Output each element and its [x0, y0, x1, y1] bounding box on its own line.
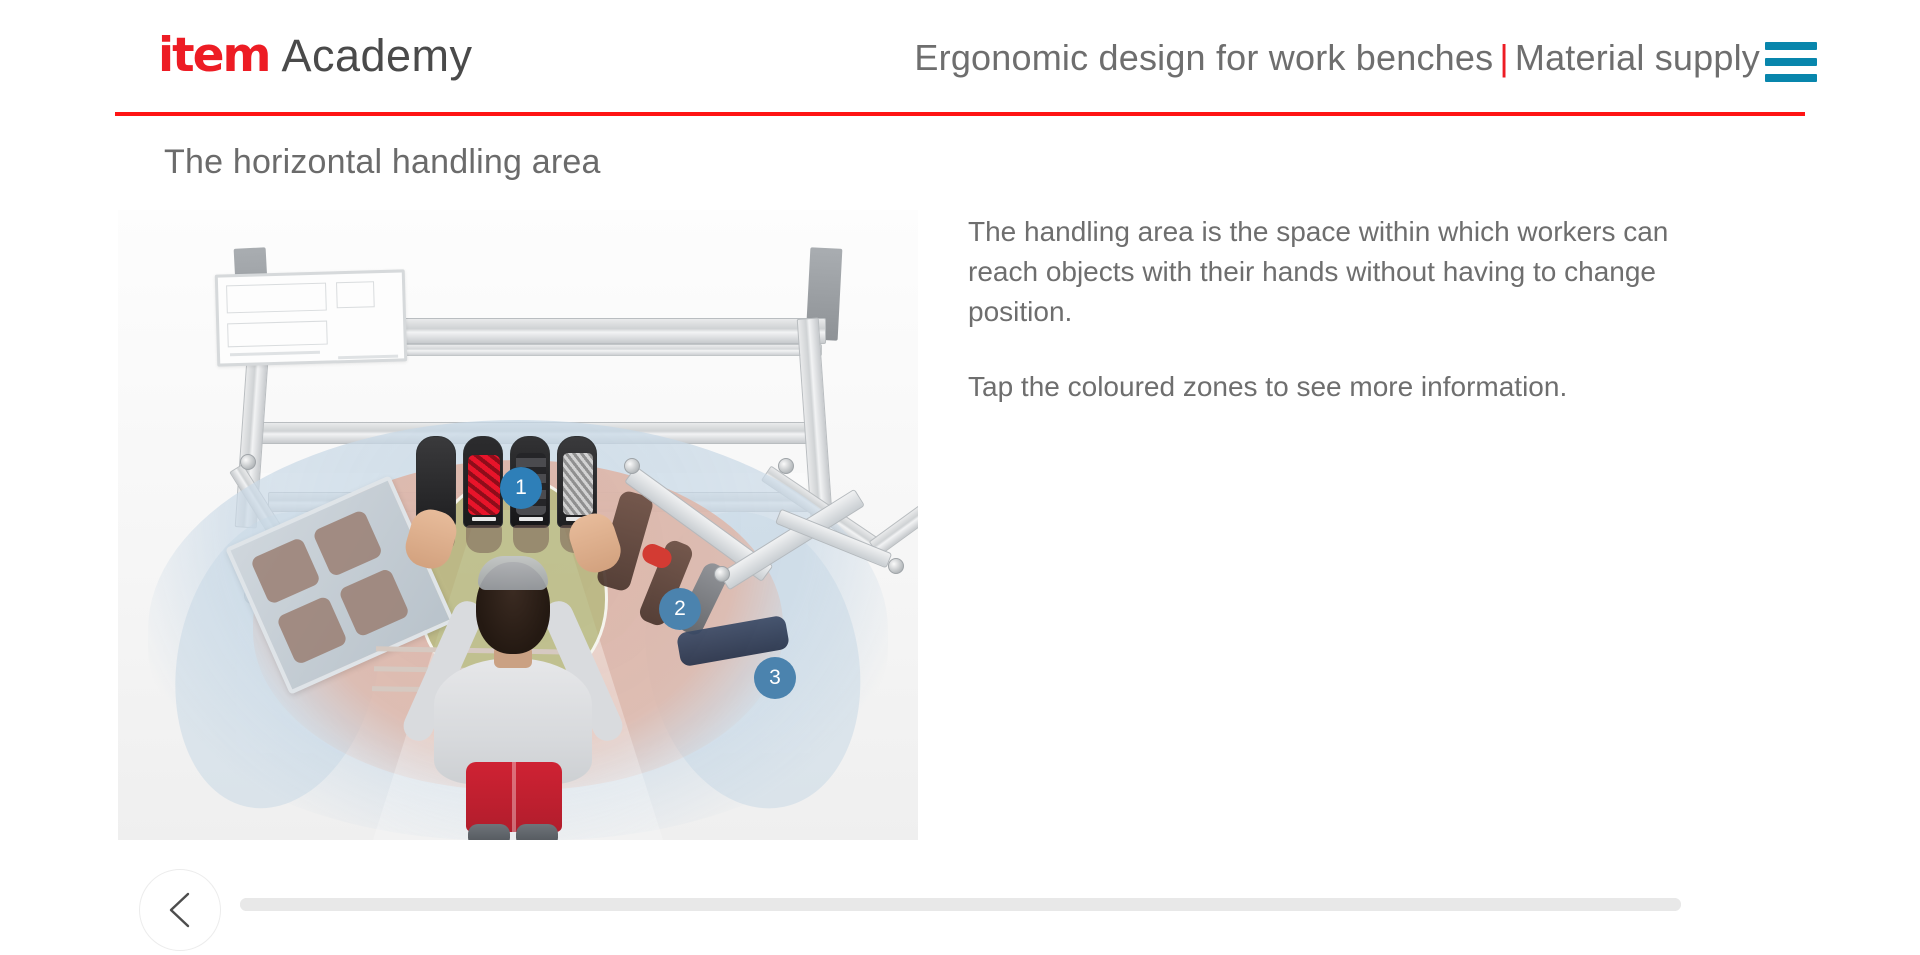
worker-figure: [420, 562, 606, 840]
brand-name-item: item: [158, 28, 269, 83]
doc-panel-b: [227, 321, 328, 348]
header-divider: [115, 112, 1805, 116]
handling-area-illustration[interactable]: 1 2 3: [118, 210, 918, 840]
bin-label-3: [519, 517, 543, 521]
app-header: item Academy Ergonomic design for work b…: [0, 0, 1920, 120]
bin-2-red-parts: [468, 455, 500, 515]
illustration-canvas: 1 2 3: [118, 210, 918, 840]
zone-marker-1[interactable]: 1: [500, 467, 542, 509]
zone-marker-3-label: 3: [769, 666, 781, 690]
course-breadcrumb-title: Ergonomic design for work benches|Materi…: [914, 37, 1760, 79]
tray-cell-1: [250, 537, 321, 605]
description-paragraph-2: Tap the coloured zones to see more infor…: [968, 367, 1698, 407]
hamburger-bar-2: [1765, 58, 1817, 66]
course-title: Ergonomic design for work benches: [914, 37, 1493, 78]
chevron-left-icon: [165, 890, 195, 930]
drawing-document-holder: [215, 269, 407, 366]
description-paragraph-1: The handling area is the space within wh…: [968, 212, 1698, 331]
material-bin-2: [463, 436, 503, 528]
title-separator: |: [1493, 37, 1515, 78]
zone-marker-2-label: 2: [674, 597, 686, 621]
tray-cell-2: [312, 509, 383, 577]
academy-slide-page: item Academy Ergonomic design for work b…: [0, 0, 1920, 955]
previous-slide-button[interactable]: [139, 869, 221, 951]
zone-marker-1-label: 1: [515, 476, 527, 500]
slide-progress-fill: [240, 898, 1681, 911]
brand-logo[interactable]: item Academy: [158, 28, 473, 83]
doc-text-line-1: [230, 351, 320, 357]
slide-progress-bar[interactable]: [240, 898, 1681, 911]
doc-panel-c: [336, 281, 375, 308]
worker-shoe-right: [516, 824, 558, 840]
bin-lip-2: [466, 525, 502, 553]
bin-4-screws: [563, 453, 593, 515]
zone-marker-2[interactable]: 2: [659, 588, 701, 630]
frame-joint-left: [240, 454, 256, 470]
bin-label-2: [472, 517, 496, 521]
tray-cell-4: [338, 568, 410, 638]
zone-marker-3[interactable]: 3: [754, 657, 796, 699]
frame-joint-right: [778, 458, 794, 474]
hamburger-bar-1: [1765, 42, 1817, 50]
module-title: Material supply: [1515, 37, 1760, 78]
description-panel: The handling area is the space within wh…: [968, 212, 1698, 407]
support-arm-joint-2: [714, 566, 730, 582]
worker-hairnet-cap: [478, 556, 548, 590]
support-arm-joint-1: [624, 458, 640, 474]
brand-name-academy: Academy: [281, 30, 472, 82]
doc-text-line-2: [338, 355, 398, 360]
support-arm-joint-3: [888, 558, 904, 574]
hamburger-menu-icon[interactable]: [1765, 42, 1817, 82]
doc-panel-a: [226, 283, 327, 314]
worker-shoe-left: [468, 824, 510, 840]
worker-leg-divider: [512, 762, 516, 832]
hamburger-bar-3: [1765, 74, 1817, 82]
tray-cell-3: [276, 595, 348, 665]
bin-lip-3: [513, 525, 549, 553]
page-title: The horizontal handling area: [164, 143, 601, 182]
